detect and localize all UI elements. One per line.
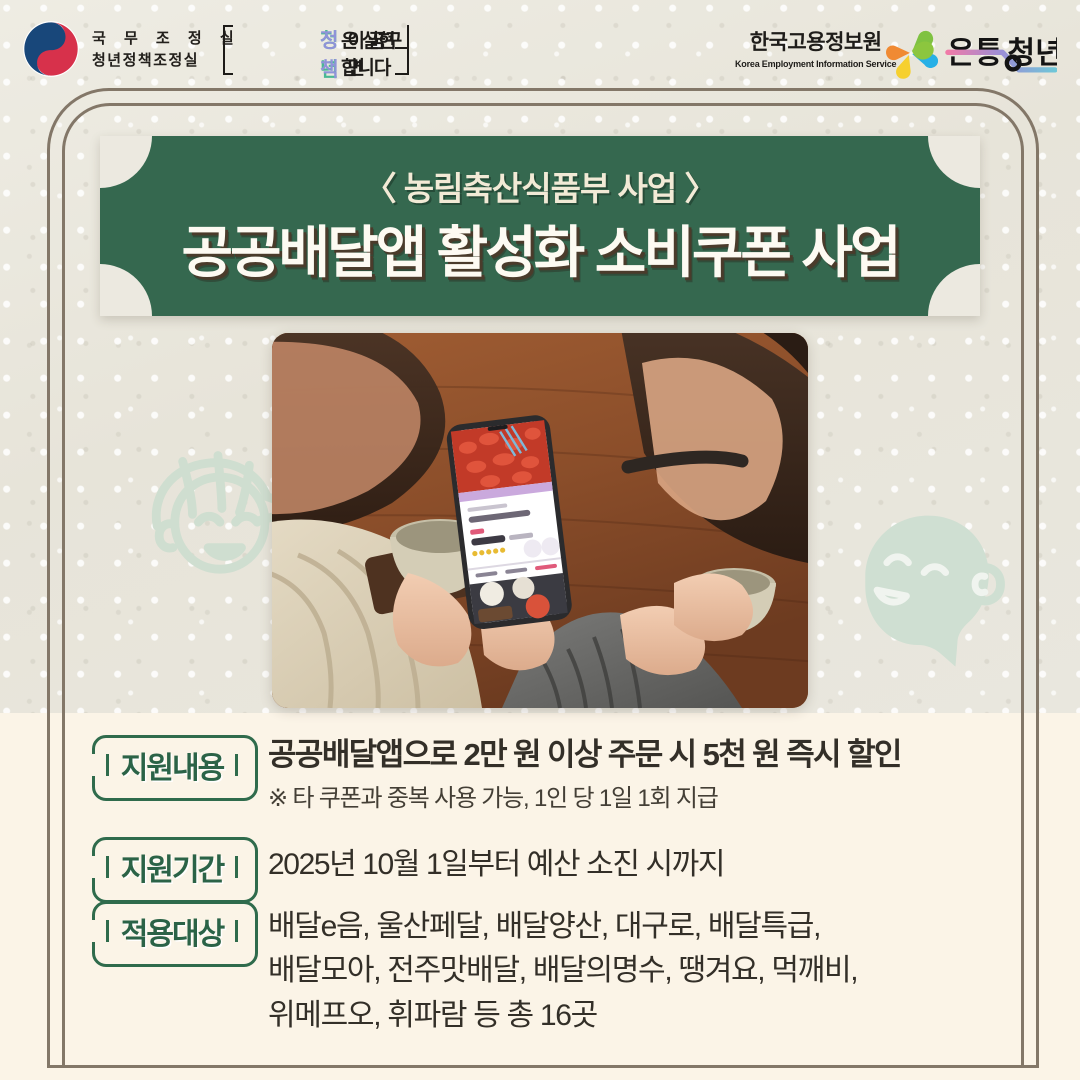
section-applicable-apps: 적용대상 배달e음, 울산페달, 배달양산, 대구로, 배달특급, 배달모아, … [92,901,252,961]
keis-wordmark: 한국고용정보원 Korea Employment Information Ser… [735,26,896,69]
slogan-line2-highlight: 정책 [320,24,341,82]
app-list-line: 배달e음, 울산페달, 배달양산, 대구로, 배달특급, [268,905,1080,949]
tag-label: 지원내용 [92,735,252,795]
tag-support-period: 지원기간 [92,837,252,897]
support-content-body: 공공배달앱으로 2만 원 이상 주문 시 5천 원 즉시 할인 ※ 타 쿠폰과 … [268,735,1080,814]
tag-label: 적용대상 [92,901,252,961]
support-content-lead: 공공배달앱으로 2만 원 이상 주문 시 5천 원 즉시 할인 [268,735,1080,775]
ontong-youth-logo: 온통 청년 [945,28,1057,76]
youth-policy-slogan: 청년 이 꿈꾸면 정책 은 실현합니다 [228,24,403,76]
government-office-text: 국 무 조 정 실 청년정책조정실 [92,28,241,72]
header-bar: 국 무 조 정 실 청년정책조정실 청년 이 꿈꾸면 정책 은 실현합니다 한국… [0,0,1080,92]
keis-name-korean: 한국고용정보원 [735,26,896,56]
keis-pinwheel-logo [884,28,938,78]
banner-title: 공공배달앱 활성화 소비쿠폰 사업 [100,208,980,289]
app-list-line: 배달모아, 전주맛배달, 배달의명수, 땡겨요, 먹깨비, [268,949,1080,993]
tag-applicable-apps: 적용대상 [92,901,252,961]
smiling-face-watermark [830,500,1026,696]
gov-office-line1: 국 무 조 정 실 [92,28,241,50]
banner-subtitle: 〈 농림축산식품부 사업 〉 [100,162,980,210]
support-period-body: 2025년 10월 1일부터 예산 소진 시까지 [268,837,1080,884]
korea-government-taegeuk-logo [22,20,80,78]
title-banner: 〈 농림축산식품부 사업 〉 공공배달앱 활성화 소비쿠폰 사업 [100,136,980,316]
gov-office-line2: 청년정책조정실 [92,50,241,72]
delivery-app-photo [272,333,808,708]
tag-support-content: 지원내용 [92,735,252,795]
poster-root: 국 무 조 정 실 청년정책조정실 청년 이 꿈꾸면 정책 은 실현합니다 한국… [0,0,1080,1080]
keis-name-english: Korea Employment Information Service [735,59,896,69]
support-period-text: 2025년 10월 1일부터 예산 소진 시까지 [268,837,1080,884]
support-content-note: ※ 타 쿠폰과 중복 사용 가능, 1인 당 1일 1회 지급 [268,783,1080,814]
tag-label: 지원기간 [92,837,252,897]
section-support-content: 지원내용 공공배달앱으로 2만 원 이상 주문 시 5천 원 즉시 할인 ※ 타… [92,735,252,795]
content-area: 지원내용 공공배달앱으로 2만 원 이상 주문 시 5천 원 즉시 할인 ※ 타… [0,713,1080,1080]
app-list-line: 위메프오, 휘파람 등 총 16곳 [268,994,1080,1038]
section-support-period: 지원기간 2025년 10월 1일부터 예산 소진 시까지 [92,837,252,897]
slogan-line2-rest: 은 실현합니다 [341,26,403,80]
applicable-apps-body: 배달e음, 울산페달, 배달양산, 대구로, 배달특급, 배달모아, 전주맛배달… [268,901,1080,1038]
